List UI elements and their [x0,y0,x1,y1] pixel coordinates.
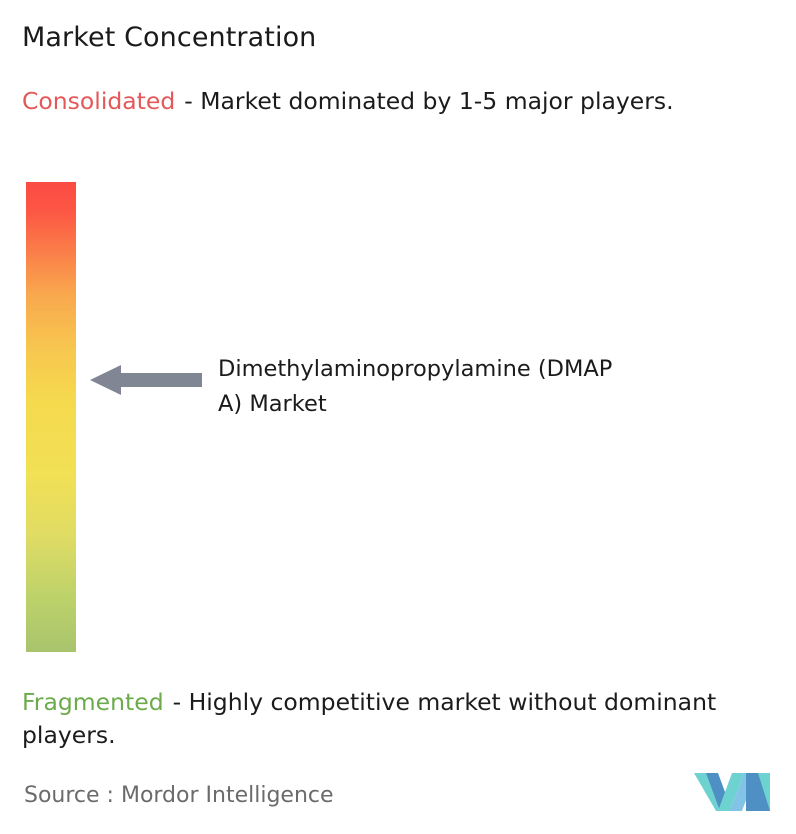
market-concentration-chart: Market Concentration Consolidated- Marke… [0,0,796,834]
label-fragmented: Fragmented [22,688,164,716]
left-arrow-icon [90,363,202,397]
mordor-intelligence-logo-icon [694,769,770,815]
concentration-gradient-bar [26,182,76,652]
caption-consolidated: Consolidated- Market dominated by 1-5 ma… [22,85,772,118]
caption-fragmented: Fragmented- Highly competitive market wi… [22,686,787,752]
description-consolidated: - Market dominated by 1-5 major players. [184,87,673,115]
label-consolidated: Consolidated [22,87,175,115]
page-title: Market Concentration [22,20,316,56]
market-label-line-1: Dimethylaminopropylamin [218,356,517,382]
source-attribution: Source : Mordor Intelligence [24,781,334,811]
market-label: Dimethylaminopropylamine (DMAPA) Market [218,352,622,422]
market-marker-group: Dimethylaminopropylamine (DMAPA) Market [90,352,750,422]
